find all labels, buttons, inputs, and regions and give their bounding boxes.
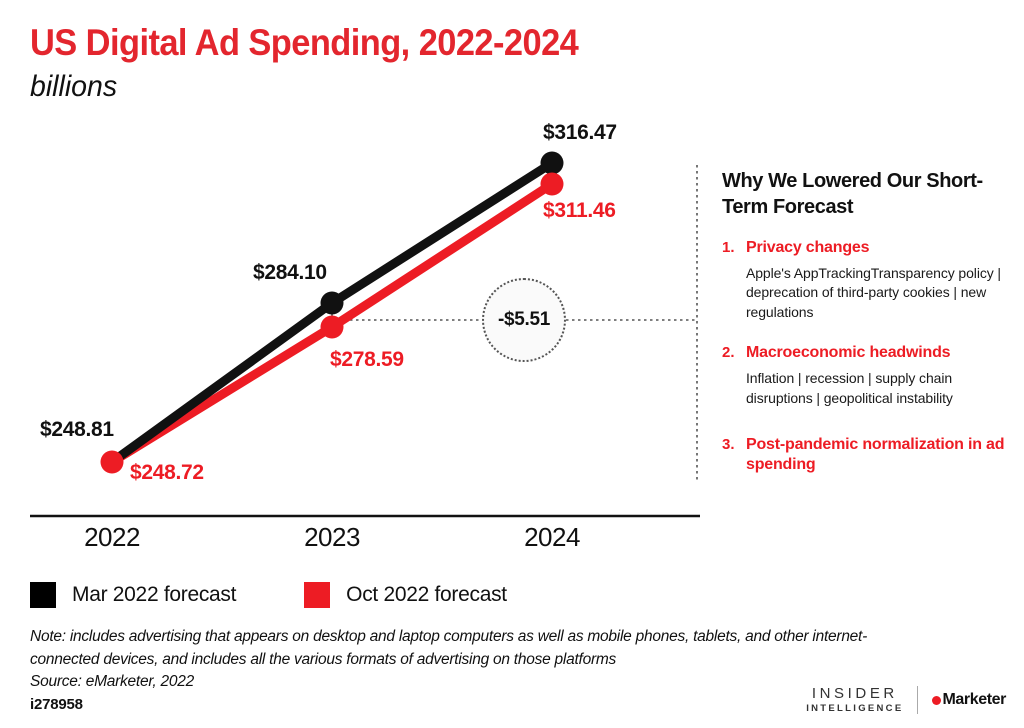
legend-item-oct-2022[interactable]: Oct 2022 forecast	[304, 582, 507, 608]
marker-mar-2022-2024	[541, 152, 564, 175]
insider-logo-line1: INSIDER	[806, 686, 903, 703]
panel-reason-2-number: 2.	[722, 344, 746, 361]
data-label-oct-2022-2024: $311.46	[543, 199, 616, 223]
legend-label-oct-2022: Oct 2022 forecast	[346, 583, 507, 607]
marker-oct-2022-2024	[541, 173, 564, 196]
x-tick-2024: 2024	[492, 522, 612, 553]
x-tick-2022: 2022	[52, 522, 172, 553]
data-label-oct-2022-2023: $278.59	[330, 348, 404, 372]
panel-reason-1-head: 1. Privacy changes	[722, 238, 1010, 258]
side-panel: Why We Lowered Our Short-Term Forecast 1…	[722, 168, 1010, 488]
legend-swatch-oct-2022	[304, 582, 330, 608]
chart-id: i278958	[30, 696, 83, 713]
insider-logo-line2: INTELLIGENCE	[806, 703, 903, 715]
delta-annotation-bubble: -$5.51	[482, 278, 566, 362]
panel-reason-3-title: Post-pandemic normalization in ad spendi…	[746, 435, 1010, 475]
chart-footer: Note: includes advertising that appears …	[30, 626, 930, 691]
x-tick-2023: 2023	[272, 522, 392, 553]
delta-annotation-value: -$5.51	[498, 309, 550, 331]
panel-reason-1: 1. Privacy changes Apple's AppTrackingTr…	[722, 238, 1010, 323]
panel-reason-1-body: Apple's AppTrackingTransparency policy |…	[746, 264, 1010, 324]
panel-reason-3: 3. Post-pandemic normalization in ad spe…	[722, 435, 1010, 475]
chart-plot-area: $248.81 $248.72 $284.10 $278.59 $316.47 …	[0, 0, 710, 560]
panel-reason-3-head: 3. Post-pandemic normalization in ad spe…	[722, 435, 1010, 475]
legend-item-mar-2022[interactable]: Mar 2022 forecast	[30, 582, 236, 608]
panel-title: Why We Lowered Our Short-Term Forecast	[722, 168, 1010, 221]
data-label-oct-2022-2022: $248.72	[130, 461, 204, 485]
chart-legend: Mar 2022 forecast Oct 2022 forecast	[30, 582, 575, 608]
footnote-text: Note: includes advertising that appears …	[30, 626, 930, 672]
legend-swatch-mar-2022	[30, 582, 56, 608]
panel-reason-2-title: Macroeconomic headwinds	[746, 343, 950, 363]
emarketer-dot-icon	[932, 696, 941, 705]
panel-reason-2-head: 2. Macroeconomic headwinds	[722, 343, 1010, 363]
logo-divider	[917, 686, 918, 714]
panel-reason-3-number: 3.	[722, 436, 746, 453]
data-label-mar-2022-2023: $284.10	[253, 261, 327, 285]
data-label-mar-2022-2024: $316.47	[543, 121, 617, 145]
panel-reason-2-body: Inflation | recession | supply chain dis…	[746, 369, 1010, 409]
marker-oct-2022-2023	[321, 316, 344, 339]
marker-mar-2022-2023	[321, 292, 344, 315]
panel-reason-2: 2. Macroeconomic headwinds Inflation | r…	[722, 343, 1010, 409]
panel-reason-1-number: 1.	[722, 239, 746, 256]
emarketer-logo: Marketer	[932, 691, 1006, 709]
source-text: Source: eMarketer, 2022	[30, 673, 930, 691]
marker-2022-shared	[101, 451, 124, 474]
legend-label-mar-2022: Mar 2022 forecast	[72, 583, 236, 607]
data-label-mar-2022-2022: $248.81	[40, 418, 114, 442]
chart-page: US Digital Ad Spending, 2022-2024 billio…	[0, 0, 1024, 728]
insider-intelligence-logo: INSIDER INTELLIGENCE	[806, 686, 903, 715]
panel-reason-1-title: Privacy changes	[746, 238, 869, 258]
emarketer-logo-text: Marketer	[942, 691, 1006, 709]
chart-svg	[0, 0, 710, 560]
brand-logo: INSIDER INTELLIGENCE Marketer	[806, 686, 1006, 715]
